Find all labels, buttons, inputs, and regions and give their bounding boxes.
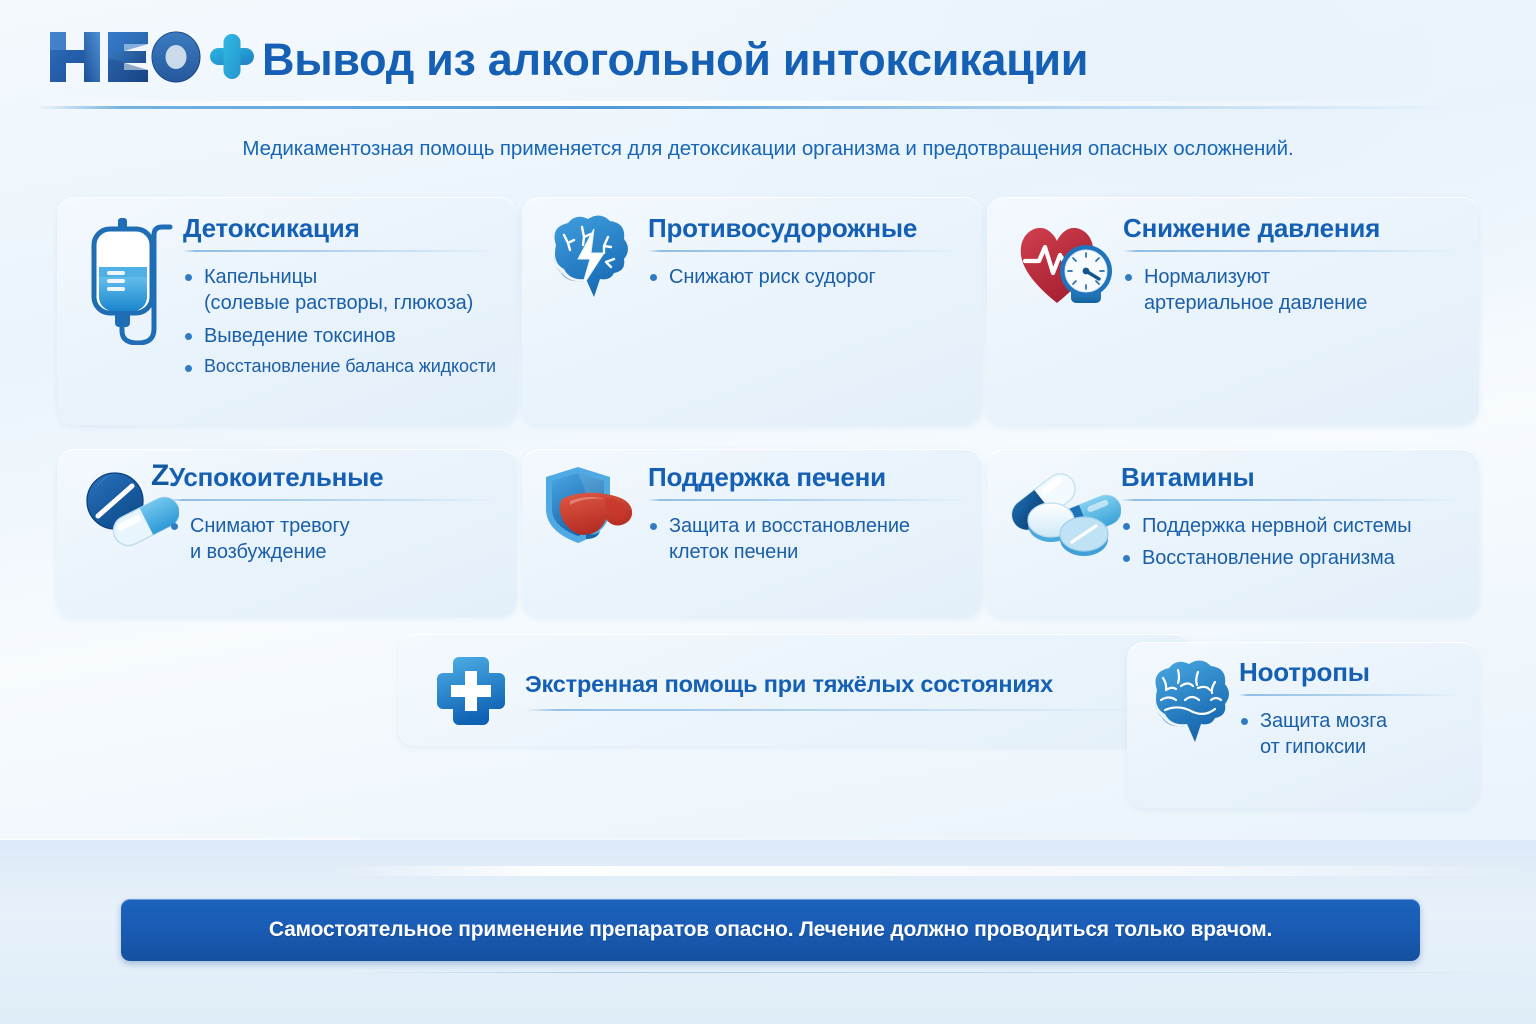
card-bullet-list: Нормализуют артериальное давление [1123,264,1459,317]
title-divider [169,499,497,501]
title-divider [648,250,964,252]
header-divider [36,106,1456,109]
svg-text:Z: Z [151,463,169,492]
footer-sheen [330,866,1536,876]
card-bullet-list: Снимают тревогу и возбуждение [169,513,497,566]
brain-lightning-icon [544,215,636,299]
card-title: Противосудорожные [648,214,964,243]
card-title: Успокоительные [169,463,497,492]
card-bullet-list: Защита мозга от гипоксии [1239,708,1461,761]
title-divider [1239,694,1461,696]
card-nootropics: Ноотропы Защита мозга от гипоксии [1127,642,1479,808]
bullet-text: Защита мозга [1260,710,1387,732]
pills-capsules-icon [995,463,1121,557]
card-title: Снижение давления [1123,214,1459,243]
card-title: Ноотропы [1239,658,1461,687]
bullet-text: Защита и восстановление [669,515,910,537]
title-divider [1121,499,1461,501]
heart-pressure-gauge-icon [1017,217,1119,309]
emergency-banner: Экстренная помощь при тяжёлых состояниях [398,634,1191,746]
bullet-text: Нормализуют [1144,266,1270,288]
list-item: Снижают риск судорог [648,264,964,291]
subtitle: Медикаментозная помощь применяется для д… [0,137,1536,161]
warning-banner: Самостоятельное применение препаратов оп… [121,899,1420,961]
list-item: Защита и восстановление клеток печени [648,513,968,566]
card-bullet-list: Поддержка нервной системы Восстановление… [1121,513,1461,572]
infographic-poster: Вывод из алкогольной интоксикации Медика… [0,0,1536,1024]
bullet-text-cont: артериальное давление [1144,290,1459,317]
list-item: Капельницы (солевые растворы, глюкоза) [183,264,499,317]
card-title: Поддержка печени [648,463,968,492]
card-anticonvulsants: Противосудорожные Снижают риск судорог [522,197,982,425]
brain-icon [1145,660,1237,744]
card-bullet-list: Капельницы (солевые растворы, глюкоза) В… [183,264,499,380]
bullet-text-cont: и возбуждение [190,539,497,566]
warning-text: Самостоятельное применение препаратов оп… [269,918,1272,942]
card-liver-support: Поддержка печени Защита и восстановление… [522,449,982,617]
card-detoxification: Детоксикация Капельницы (солевые раствор… [57,197,517,425]
list-item: Восстановление баланса жидкости [183,355,499,379]
bullet-text: Капельницы [204,266,317,288]
card-blood-pressure: Снижение давления Нормализуют артериальн… [987,197,1479,425]
shield-liver-icon [544,465,644,555]
medical-cross-icon [435,655,507,732]
bullet-text-cont: от гипоксии [1260,734,1461,761]
iv-drip-icon [77,215,187,345]
neo-plus-logo [48,28,256,86]
card-vitamins: Витамины Поддержка нервной системы Восст… [987,449,1479,617]
card-title: Витамины [1121,463,1461,492]
sedative-pill-z-icon: Z [75,463,179,549]
list-item: Нормализуют артериальное давление [1123,264,1459,317]
bullet-text-cont: (солевые растворы, глюкоза) [204,290,499,317]
list-item: Поддержка нервной системы [1121,513,1461,540]
list-item: Восстановление организма [1121,545,1461,572]
title-divider [648,499,968,501]
header: Вывод из алкогольной интоксикации [0,0,1536,112]
bullet-text-cont: клеток печени [669,539,968,566]
title-divider [183,250,499,252]
list-item: Выведение токсинов [183,323,499,350]
card-bullet-list: Защита и восстановление клеток печени [648,513,968,566]
card-bullet-list: Снижают риск судорог [648,264,964,291]
title-divider [1123,250,1459,252]
emergency-text: Экстренная помощь при тяжёлых состояниях [525,671,1053,698]
footer-hairline [350,972,1536,973]
card-title: Детоксикация [183,214,499,243]
emergency-divider [525,709,1145,711]
bullet-text: Снимают тревогу [190,515,350,537]
list-item: Защита мозга от гипоксии [1239,708,1461,761]
card-sedatives: Z Успокоительные Снимают тревогу и возбу… [57,449,517,617]
list-item: Снимают тревогу и возбуждение [169,513,497,566]
page-title: Вывод из алкогольной интоксикации [262,34,1088,86]
